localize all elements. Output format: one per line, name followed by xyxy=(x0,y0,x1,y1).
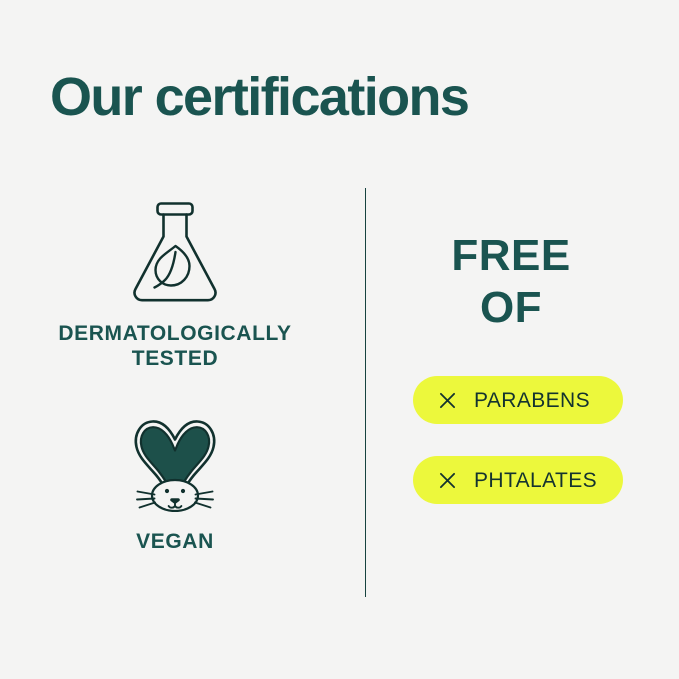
x-icon xyxy=(439,392,456,409)
free-of-pill-list: PARABENS PHTALATES xyxy=(413,376,623,504)
flask-leaf-icon xyxy=(0,200,350,309)
certification-item-vegan: VEGAN xyxy=(0,410,350,554)
free-of-heading: FREE OF xyxy=(366,230,656,334)
certification-label: VEGAN xyxy=(0,529,350,554)
certification-label-line1: VEGAN xyxy=(136,530,214,553)
free-of-pill-label: PARABENS xyxy=(474,390,590,411)
free-of-heading-line2: OF xyxy=(366,282,656,334)
free-of-column: FREE OF PARABENS PHTALATES xyxy=(366,180,679,600)
certifications-column: DERMATOLOGICALLY TESTED xyxy=(0,180,350,580)
free-of-pill-label: PHTALATES xyxy=(474,470,597,491)
free-of-pill-parabens: PARABENS xyxy=(413,376,623,424)
page-title: Our certifications xyxy=(50,66,468,128)
free-of-pill-phtalates: PHTALATES xyxy=(413,456,623,504)
free-of-heading-line1: FREE xyxy=(451,231,570,280)
certification-label: DERMATOLOGICALLY TESTED xyxy=(30,321,320,371)
certification-item-dermatologically-tested: DERMATOLOGICALLY TESTED xyxy=(0,200,350,371)
certifications-page: Our certifications DERMATOLOGICALLY xyxy=(0,0,679,679)
certification-label-line1: DERMATOLOGICALLY xyxy=(58,322,291,345)
certification-label-line2: TESTED xyxy=(132,347,218,370)
bunny-heart-icon xyxy=(0,410,350,517)
x-icon xyxy=(439,472,456,489)
